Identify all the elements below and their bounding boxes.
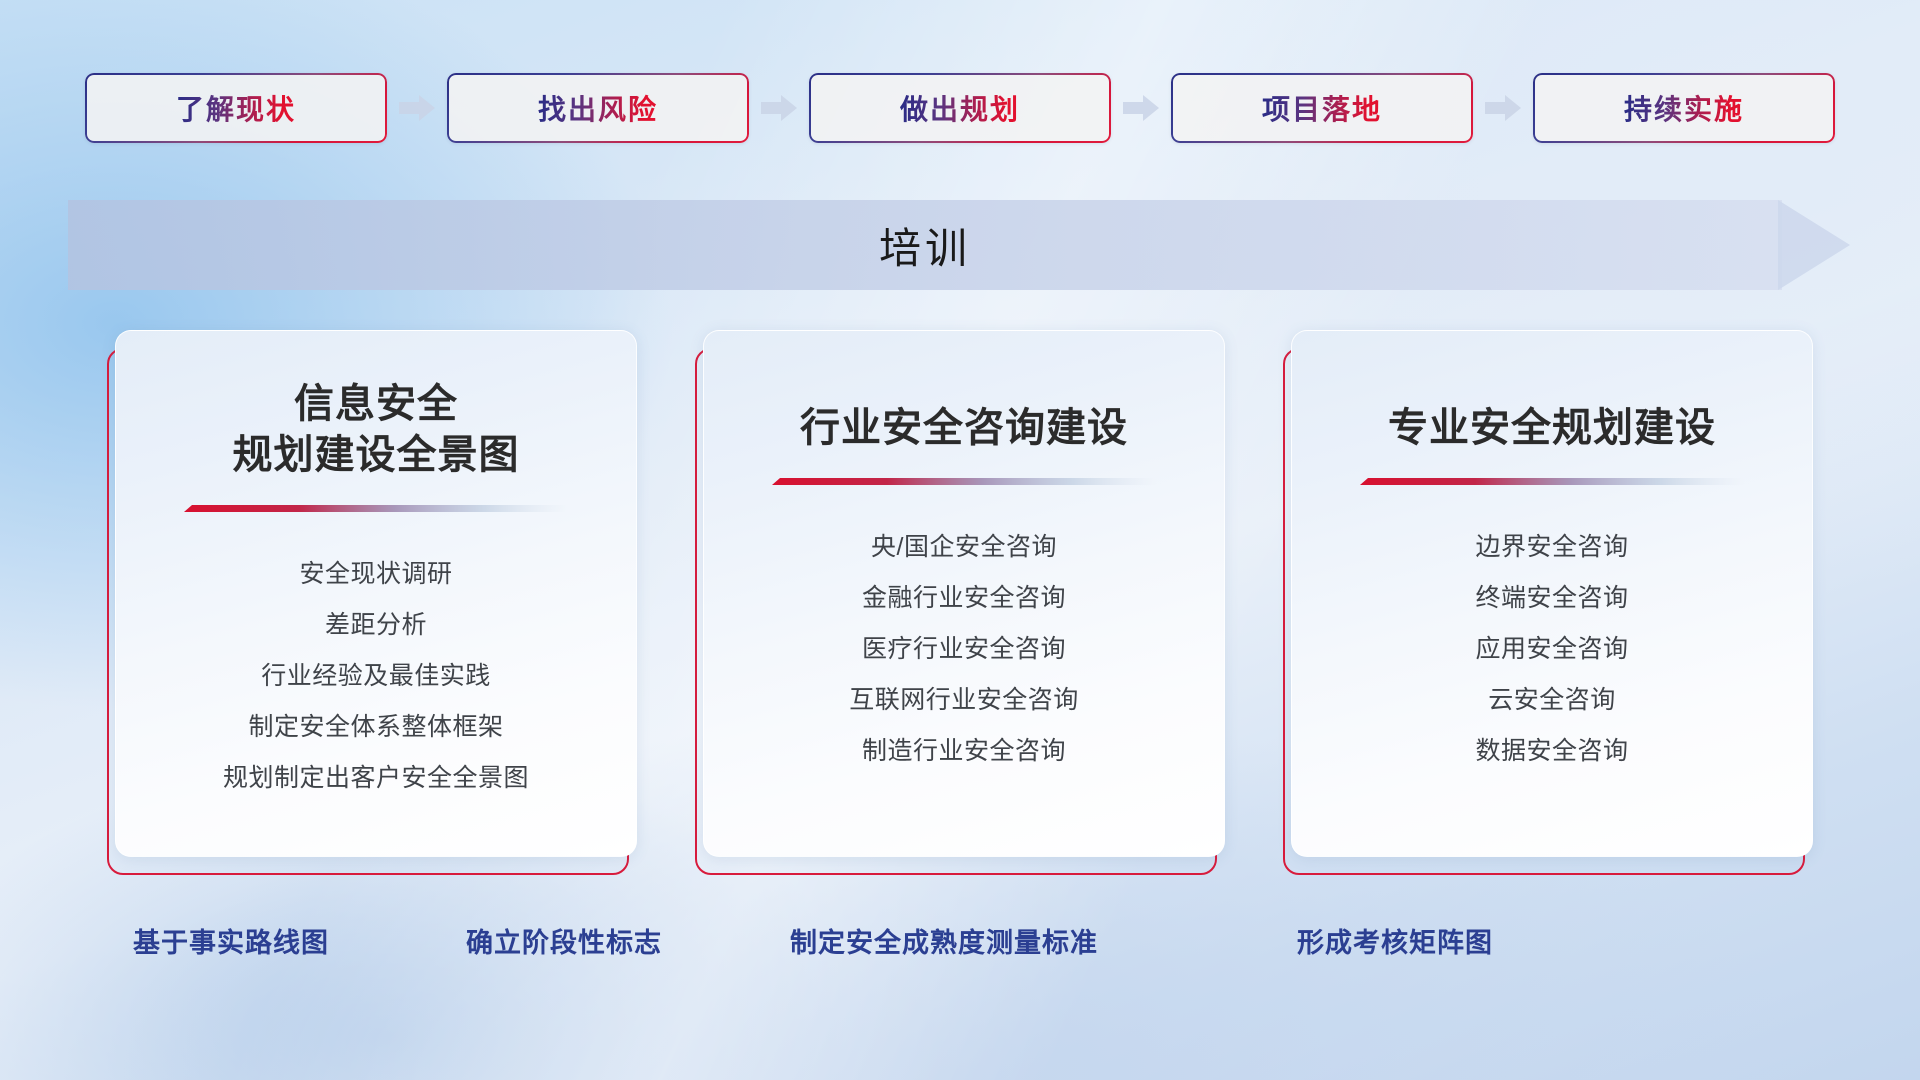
footer-label-3: 形成考核矩阵图: [1297, 910, 1493, 970]
step-box-4[interactable]: 持续实施: [1533, 73, 1835, 143]
card-slot-0: 信息安全 规划建设全景图 安全现状调研: [107, 330, 637, 875]
card-list-1: 央/国企安全咨询 金融行业安全咨询 医疗行业安全咨询 互联网行业安全咨询 制造行…: [849, 522, 1079, 777]
card-list-item: 差距分析: [325, 600, 427, 651]
card-list-2: 边界安全咨询 终端安全咨询 应用安全咨询 云安全咨询 数据安全咨询: [1475, 522, 1628, 777]
training-banner: 培训: [68, 200, 1850, 290]
card-list-item: 规划制定出客户安全全景图: [223, 753, 529, 804]
step-arrow-icon-3: [1473, 93, 1533, 123]
step-label-1: 找出风险: [538, 88, 658, 128]
card-1[interactable]: 行业安全咨询建设 央/国企安全咨询: [703, 330, 1225, 857]
step-wrap-2: 做出规划: [809, 73, 1171, 143]
step-arrow-icon-0: [387, 93, 447, 123]
card-list-item: 应用安全咨询: [1475, 624, 1628, 675]
step-label-0: 了解现状: [176, 88, 296, 128]
card-slot-1: 行业安全咨询建设 央/国企安全咨询: [695, 330, 1225, 875]
step-box-2[interactable]: 做出规划: [809, 73, 1111, 143]
card-divider-2: [1360, 478, 1744, 488]
banner-arrow-tip-icon: [1778, 192, 1850, 298]
card-list-item: 边界安全咨询: [1475, 522, 1628, 573]
step-wrap-1: 找出风险: [447, 73, 809, 143]
card-list-item: 互联网行业安全咨询: [849, 675, 1079, 726]
card-title-1: 行业安全咨询建设: [800, 403, 1128, 454]
card-list-item: 云安全咨询: [1488, 675, 1616, 726]
card-list-item: 金融行业安全咨询: [862, 573, 1066, 624]
card-list-item: 制定安全体系整体框架: [248, 702, 503, 753]
step-label-3: 项目落地: [1262, 88, 1382, 128]
card-row: 信息安全 规划建设全景图 安全现状调研: [0, 330, 1920, 875]
card-list-item: 医疗行业安全咨询: [862, 624, 1066, 675]
step-label-2: 做出规划: [900, 88, 1020, 128]
step-wrap-3: 项目落地: [1171, 73, 1533, 143]
footer-label-1: 确立阶段性标志: [466, 910, 662, 970]
step-wrap-4: 持续实施: [1533, 73, 1835, 143]
card-title-0: 信息安全 规划建设全景图: [233, 379, 520, 481]
card-list-item: 数据安全咨询: [1475, 726, 1628, 777]
card-slot-2: 专业安全规划建设 边界安全咨询: [1283, 330, 1813, 875]
step-arrow-icon-2: [1111, 93, 1171, 123]
card-0[interactable]: 信息安全 规划建设全景图 安全现状调研: [115, 330, 637, 857]
banner-title: 培训: [68, 200, 1782, 290]
card-list-item: 行业经验及最佳实践: [261, 651, 491, 702]
step-label-4: 持续实施: [1624, 88, 1744, 128]
card-list-0: 安全现状调研 差距分析 行业经验及最佳实践 制定安全体系整体框架 规划制定出客户…: [223, 549, 529, 804]
footer-label-0: 基于事实路线图: [133, 910, 329, 970]
card-title-2: 专业安全规划建设: [1388, 403, 1716, 454]
step-arrow-icon-1: [749, 93, 809, 123]
step-box-1[interactable]: 找出风险: [447, 73, 749, 143]
card-list-item: 终端安全咨询: [1475, 573, 1628, 624]
card-list-item: 央/国企安全咨询: [871, 522, 1057, 573]
footer-label-row: 基于事实路线图 确立阶段性标志 制定安全成熟度测量标准 形成考核矩阵图: [0, 910, 1920, 970]
card-list-item: 安全现状调研: [299, 549, 452, 600]
step-box-3[interactable]: 项目落地: [1171, 73, 1473, 143]
step-wrap-0: 了解现状: [85, 73, 447, 143]
process-step-row: 了解现状 找出风险 做出规划 项目落地 持续实施: [0, 68, 1920, 148]
footer-label-2: 制定安全成熟度测量标准: [790, 910, 1098, 970]
card-list-item: 制造行业安全咨询: [862, 726, 1066, 777]
step-box-0[interactable]: 了解现状: [85, 73, 387, 143]
card-2[interactable]: 专业安全规划建设 边界安全咨询: [1291, 330, 1813, 857]
card-divider-0: [184, 505, 568, 515]
card-divider-1: [772, 478, 1156, 488]
